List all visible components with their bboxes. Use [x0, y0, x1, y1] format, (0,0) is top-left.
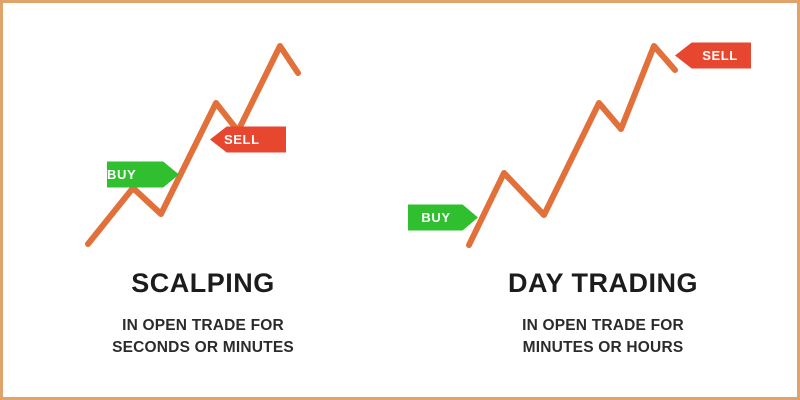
sell-marker-label: SELL [702, 49, 738, 62]
panel-subtitle-line-2: MINUTES OR HOURS [403, 337, 800, 359]
panel-title-day-trading: DAY TRADING [403, 269, 800, 299]
panel-subtitle-line-2: SECONDS OR MINUTES [3, 337, 403, 359]
captions-day-trading: DAY TRADING IN OPEN TRADE FOR MINUTES OR… [403, 269, 800, 360]
captions-scalping: SCALPING IN OPEN TRADE FOR SECONDS OR MI… [3, 269, 403, 360]
buy-marker-label: BUY [107, 168, 165, 181]
panel-scalping: BUY SELL SCALPING IN OPEN TRADE FOR SECO… [3, 3, 403, 400]
chart-scalping: BUY SELL [3, 3, 403, 265]
panel-subtitle-day-trading: IN OPEN TRADE FOR MINUTES OR HOURS [403, 315, 800, 360]
chart-day-trading: BUY SELL [403, 3, 800, 265]
day-trading-price-line [469, 46, 675, 245]
infographic-root: BUY SELL SCALPING IN OPEN TRADE FOR SECO… [0, 0, 800, 400]
buy-marker-label: BUY [421, 211, 450, 224]
scalping-line-chart [3, 3, 403, 265]
panel-subtitle-scalping: IN OPEN TRADE FOR SECONDS OR MINUTES [3, 315, 403, 360]
panel-subtitle-line-1: IN OPEN TRADE FOR [403, 315, 800, 337]
sell-marker-label: SELL [224, 133, 286, 146]
panel-day-trading: BUY SELL DAY TRADING IN OPEN TRADE FOR M… [403, 3, 800, 400]
panel-subtitle-line-1: IN OPEN TRADE FOR [3, 315, 403, 337]
panel-title-scalping: SCALPING [3, 269, 403, 299]
